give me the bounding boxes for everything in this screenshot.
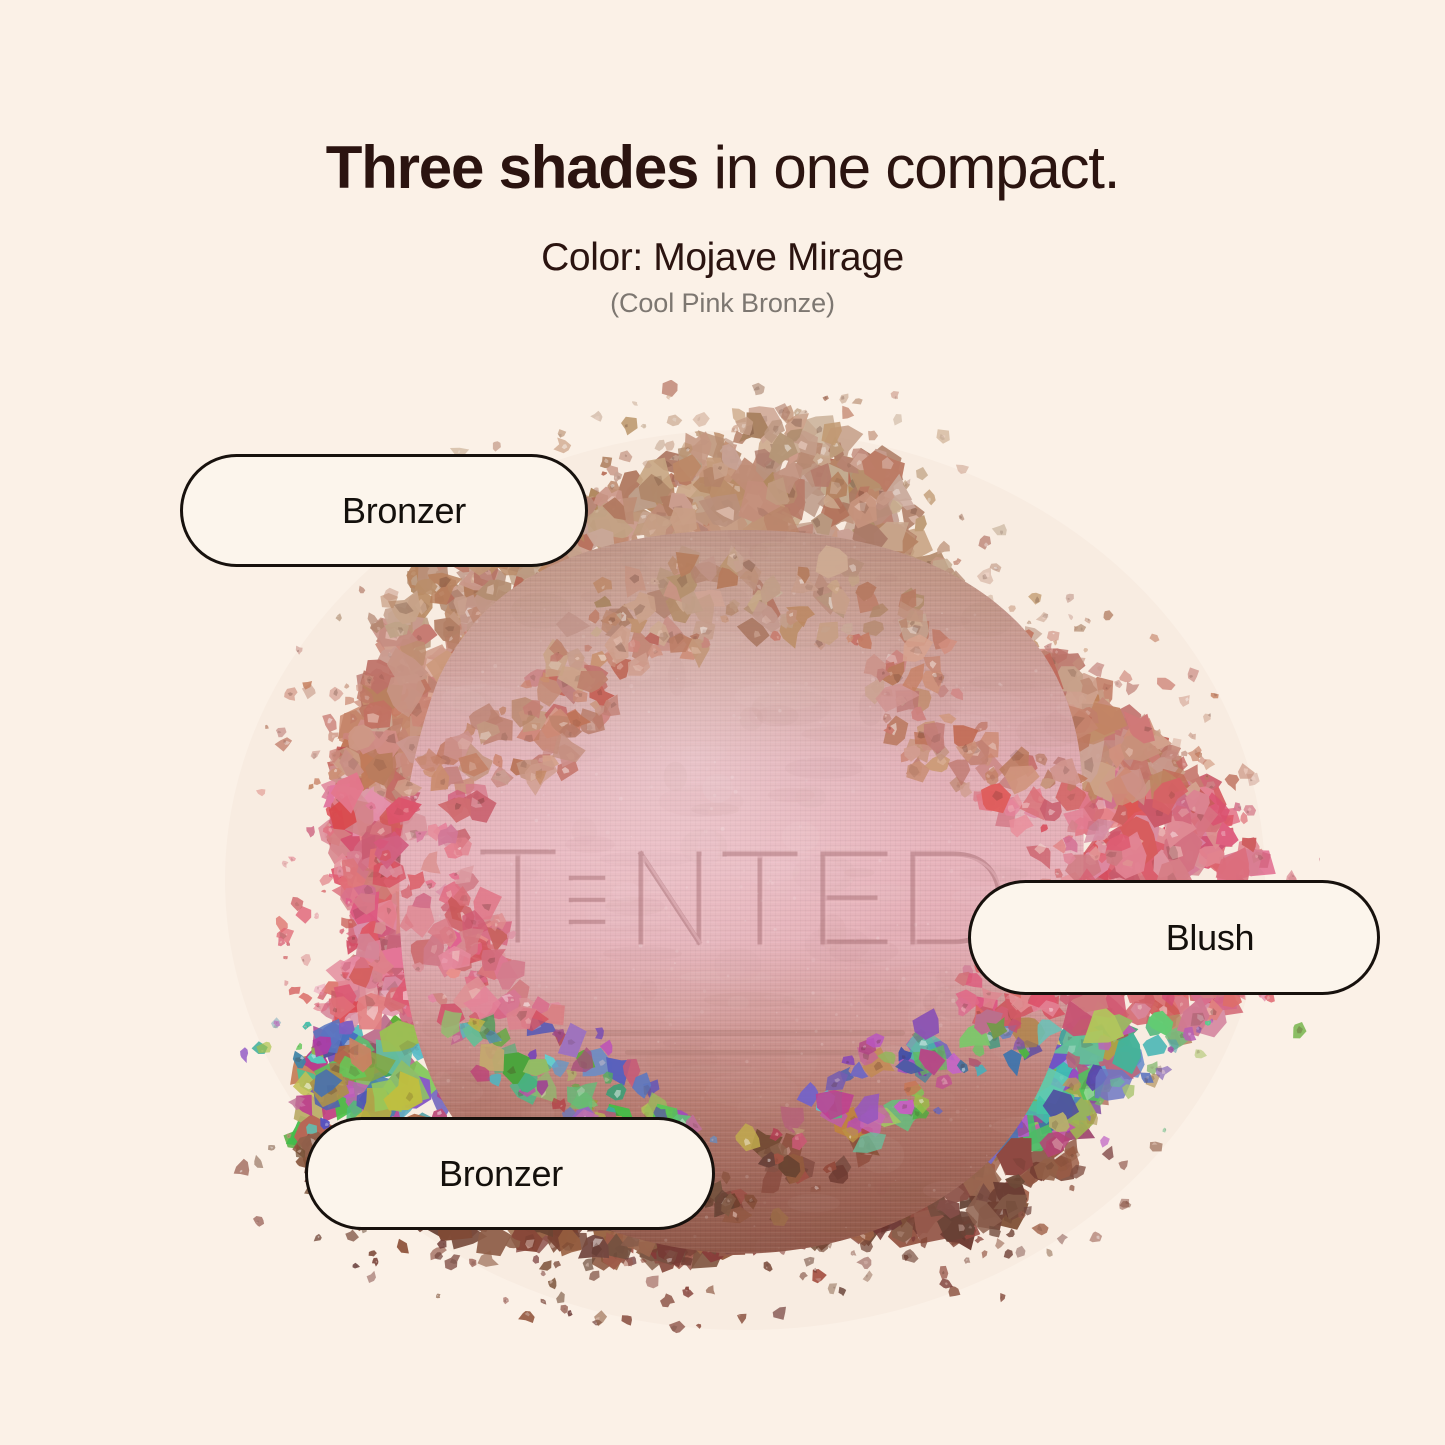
label-bronzer-top[interactable]: Bronzer: [180, 454, 588, 567]
label-bronzer-bottom-text: Bronzer: [439, 1153, 563, 1195]
label-blush[interactable]: Blush: [968, 880, 1380, 995]
label-bronzer-bottom[interactable]: Bronzer: [305, 1117, 715, 1230]
headline-strong: Three shades: [326, 134, 698, 201]
color-descriptor: (Cool Pink Bronze): [0, 288, 1445, 319]
label-bronzer-top-text: Bronzer: [342, 490, 466, 532]
page-title: Three shades in one compact.: [0, 136, 1445, 201]
label-blush-text: Blush: [1166, 917, 1255, 959]
headline-light: in one compact.: [698, 134, 1119, 201]
product-image-canvas: Three shades in one compact. Color: Moja…: [0, 0, 1445, 1445]
color-name: Color: Mojave Mirage: [0, 236, 1445, 280]
